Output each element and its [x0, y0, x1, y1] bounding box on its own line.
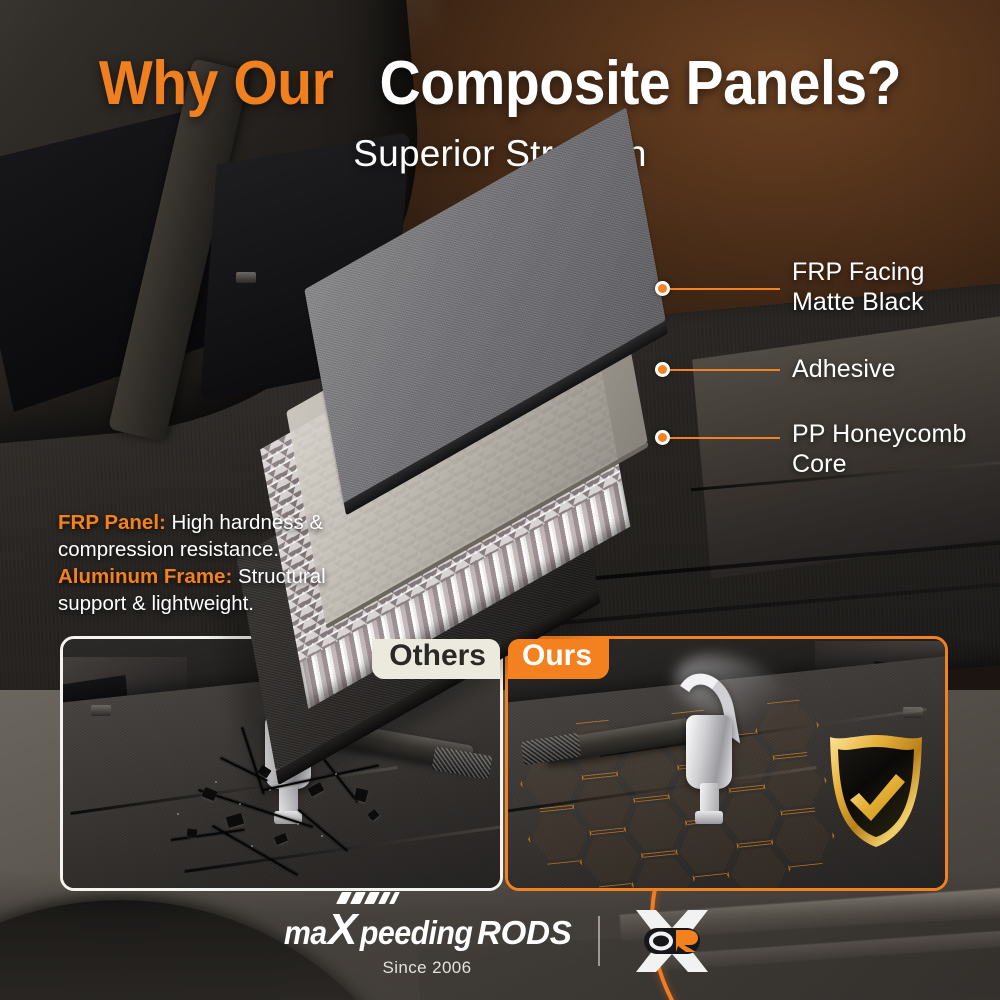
callout-leader-honeycomb — [670, 437, 780, 439]
callout-leader-frp-facing — [670, 288, 780, 290]
comparison-card-ours[interactable]: Ours — [505, 636, 948, 891]
callout-dot-honeycomb — [655, 430, 670, 445]
callout-label-honeycomb-line1: PP Honeycomb — [792, 420, 966, 450]
tag-ours: Ours — [505, 636, 609, 679]
headline-main: Composite Panels? — [380, 49, 902, 118]
footer-divider — [598, 916, 600, 966]
brand-part-x: X — [328, 905, 357, 955]
cover-clamp-icon — [91, 705, 111, 716]
shield-check-badge-icon — [825, 731, 927, 849]
brand-part-peeding: peeding — [360, 914, 473, 952]
callout-dot-adhesive — [655, 362, 670, 377]
speed-lines-icon — [335, 892, 453, 908]
brand-wordmark: ma X peeding RODS — [282, 905, 571, 955]
feature-label-aluminum-frame: Aluminum Frame: — [58, 565, 232, 588]
feature-item: Aluminum Frame: Structural support & lig… — [58, 564, 388, 617]
callout-label-frp-facing-line1: FRP Facing — [792, 258, 925, 288]
brand-tagline: Since 2006 — [382, 958, 471, 978]
hammer-neck — [700, 783, 719, 813]
feature-text-block: FRP Panel: High hardness & compression r… — [58, 510, 388, 619]
brand-logo[interactable]: ma X peeding RODS Since 2006 — [282, 905, 571, 978]
page-subtitle: Superior Strength — [0, 133, 1000, 175]
callout-label-frp-facing-line2: Matte Black — [792, 288, 924, 318]
debris-shard — [186, 828, 197, 837]
infographic-canvas: Why Our Composite Panels? Superior Stren… — [0, 0, 1000, 1000]
brand-part-rods: RODS — [477, 914, 572, 952]
or-logo[interactable]: O R — [626, 908, 718, 974]
feature-label-frp-panel: FRP Panel: — [58, 511, 166, 534]
hammer-icon — [566, 669, 796, 844]
callout-dot-frp-facing — [655, 281, 670, 296]
footer-branding: ma X peeding RODS Since 2006 O R — [0, 900, 1000, 982]
feature-item: FRP Panel: High hardness & compression r… — [58, 510, 388, 563]
page-title: Why Our Composite Panels? — [40, 52, 960, 115]
callout-leader-adhesive — [670, 369, 780, 371]
brand-part-ma: ma — [284, 914, 327, 952]
hammer-head — [686, 715, 732, 789]
callout-label-adhesive: Adhesive — [792, 355, 896, 385]
headline-accent: Why Our — [99, 49, 333, 118]
hammer-strike-face — [695, 811, 723, 824]
tag-others: Others — [372, 636, 503, 679]
callout-label-honeycomb-line2: Core — [792, 450, 847, 480]
